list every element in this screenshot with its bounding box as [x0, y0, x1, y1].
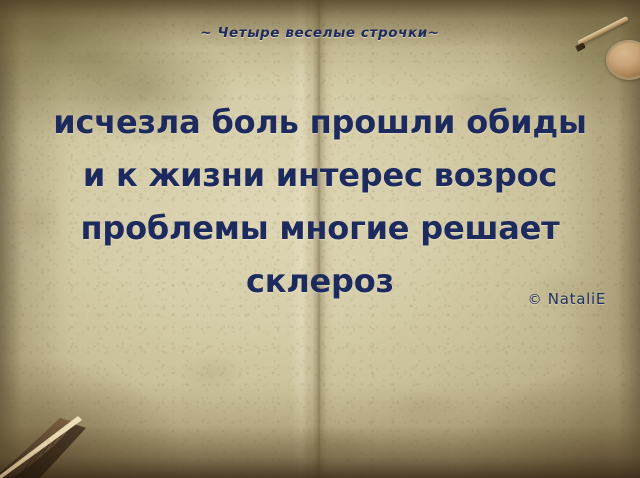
- quote-card-canvas: ~ Четыре веселые строчки~ исчезла боль п…: [0, 0, 640, 478]
- ink-dish-icon: [606, 40, 640, 80]
- poem-line-2: и к жизни интерес возрос: [28, 149, 612, 202]
- author-signature: © NataliE: [528, 290, 606, 308]
- card-subtitle: ~ Четыре веселые строчки~: [0, 25, 640, 41]
- author-name: NataliE: [548, 290, 606, 308]
- poem-line-1: исчезла боль прошли обиды: [28, 96, 612, 149]
- feather-quill-decoration: [0, 392, 126, 478]
- poem-line-3: проблемы многие решает: [28, 202, 612, 255]
- copyright-icon: ©: [528, 292, 543, 308]
- feather-icon: [0, 392, 126, 478]
- poem-line-4: склероз: [28, 255, 612, 308]
- pen-nib-icon: [575, 42, 586, 51]
- pen-and-ink-decoration: [576, 0, 640, 82]
- poem-body: исчезла боль прошли обиды и к жизни инте…: [28, 96, 612, 308]
